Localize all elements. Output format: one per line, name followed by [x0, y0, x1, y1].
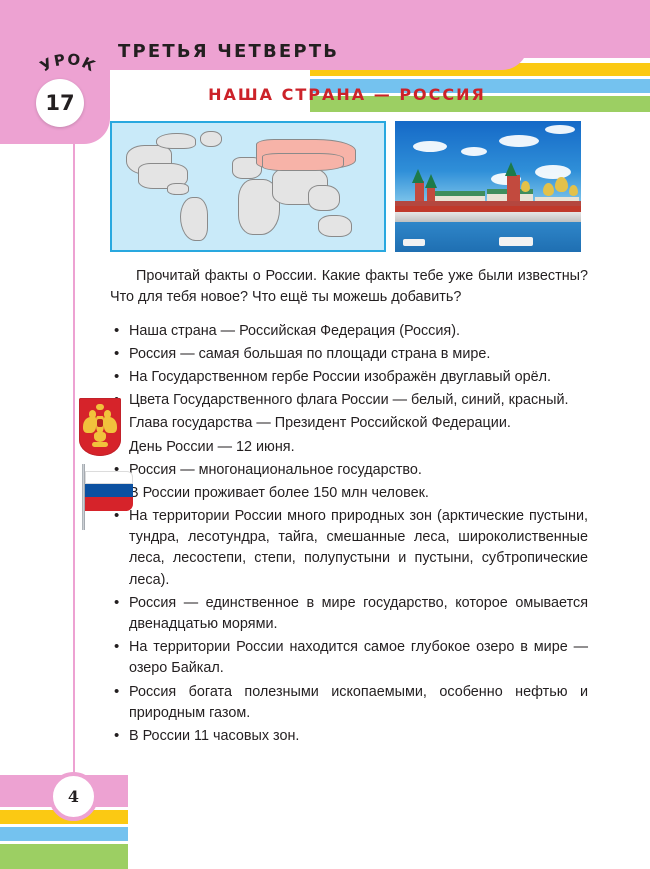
facts-list: Наша страна — Российская Федерация (Росс…	[110, 321, 590, 747]
flag-stripe-blue	[85, 484, 133, 497]
list-item: Россия богата полезными ископаемыми, осо…	[110, 682, 588, 724]
list-item: Россия — единственное в мире государство…	[110, 593, 588, 635]
list-item: На территории России находится самое глу…	[110, 637, 588, 679]
world-map-image	[110, 121, 386, 252]
bottom-strip-green	[0, 844, 128, 869]
flag-of-russia-icon	[79, 462, 139, 532]
kremlin-photo	[395, 121, 581, 252]
quarter-title: ТРЕТЬЯ ЧЕТВЕРТЬ	[118, 41, 339, 62]
list-item: В России 11 часовых зон.	[110, 726, 588, 747]
flag-stripe-white	[85, 471, 133, 484]
flag-stripe-red	[85, 497, 133, 511]
page-content: НАША СТРАНА — РОССИЯ	[110, 85, 590, 749]
lesson-number-badge: 17	[36, 79, 84, 127]
list-item: Наша страна — Российская Федерация (Росс…	[110, 321, 588, 342]
list-item: На территории России много природных зон…	[110, 506, 588, 591]
margin-rule	[73, 140, 75, 780]
list-item: День России — 12 июня.	[110, 437, 588, 458]
list-item: В России проживает более 150 млн человек…	[110, 483, 588, 504]
list-item: Россия — самая большая по площади страна…	[110, 344, 588, 365]
page-title: НАША СТРАНА — РОССИЯ	[110, 85, 590, 104]
bottom-strip-blue	[0, 827, 128, 841]
list-item: На Государственном гербе России изображё…	[110, 367, 588, 388]
list-item: Россия — многонациональное государство.	[110, 460, 588, 481]
lesson-label: УРОК	[37, 50, 99, 76]
intro-paragraph: Прочитай факты о России. Какие факты теб…	[110, 266, 590, 308]
page-number: 4	[49, 772, 98, 821]
svg-text:УРОК: УРОК	[37, 50, 99, 76]
list-item: Цвета Государственного флага России — бе…	[110, 390, 588, 411]
list-item: Глава государства — Президент Российской…	[110, 413, 588, 434]
coat-of-arms-icon	[79, 398, 121, 456]
figure-row	[110, 121, 590, 252]
